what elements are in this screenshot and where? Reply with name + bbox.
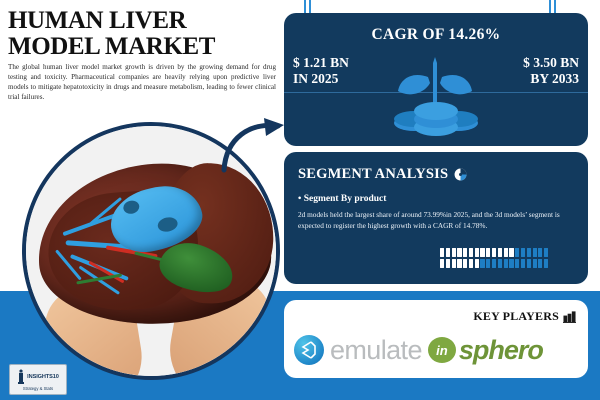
lighthouse-icon — [17, 369, 25, 385]
bar-segment — [509, 259, 513, 268]
pie-chart-icon — [454, 168, 467, 181]
factory-icon — [563, 310, 576, 323]
segment-analysis-title-text: SEGMENT ANALYSIS — [298, 166, 448, 183]
bar-segment — [538, 248, 542, 257]
segment-body-text: 2d models held the largest share of arou… — [298, 210, 576, 232]
bar-segment — [521, 248, 525, 257]
cagr-title: CAGR OF 14.26% — [284, 26, 588, 44]
bar-segment — [486, 259, 490, 268]
bar-segment — [480, 259, 484, 268]
bar-segment — [498, 248, 502, 257]
insphero-wordmark: sphero — [459, 337, 543, 364]
bar-segment — [452, 248, 456, 257]
bar-segment — [533, 259, 537, 268]
liver-photo-figure — [22, 122, 288, 388]
bar-segment — [492, 259, 496, 268]
bar-segment — [527, 259, 531, 268]
vein — [62, 213, 116, 236]
bar-segment — [544, 259, 548, 268]
vessel-opening — [156, 216, 178, 234]
bar-segment — [446, 248, 450, 257]
vessel-opening — [122, 199, 140, 215]
bar-segment — [463, 259, 467, 268]
value-start-line2: IN 2025 — [293, 71, 349, 87]
bar-segment — [504, 259, 508, 268]
key-players-logos: emulate in sphero — [294, 328, 578, 372]
bar-segment — [440, 259, 444, 268]
bar-segment — [504, 248, 508, 257]
key-players-card: KEY PLAYERS emulate in sphero — [284, 300, 588, 378]
emulate-glyph — [294, 335, 324, 365]
bar-segment — [457, 248, 461, 257]
segment-bullet: • Segment By product — [298, 194, 386, 204]
bar-segment — [515, 259, 519, 268]
bar-segment — [486, 248, 490, 257]
value-end: $ 3.50 BN BY 2033 — [523, 55, 579, 86]
bar-segment — [452, 259, 456, 268]
insphero-prefix: in — [436, 344, 448, 357]
bar-segment — [457, 259, 461, 268]
bar-segment — [469, 248, 473, 257]
intro-paragraph: The global human liver model market grow… — [8, 62, 276, 102]
insphero-logo-mark: in — [428, 337, 456, 363]
value-start-line1: $ 1.21 BN — [293, 55, 349, 71]
page-title: HUMAN LIVER MODEL MARKET — [8, 8, 274, 60]
emulate-wordmark: emulate — [330, 337, 422, 364]
bar-segment — [469, 259, 473, 268]
bar-segment — [538, 259, 542, 268]
bar-segment — [527, 248, 531, 257]
curved-arrow-icon — [220, 116, 292, 174]
bar-segment — [475, 248, 479, 257]
cagr-card: CAGR OF 14.26% $ 1.21 BN IN 2025 $ 3.50 … — [284, 13, 588, 146]
infographic-canvas: HUMAN LIVER MODEL MARKET The global huma… — [0, 0, 600, 400]
segment-bar-chart — [440, 248, 574, 271]
bar-segment — [521, 259, 525, 268]
value-start: $ 1.21 BN IN 2025 — [293, 55, 349, 86]
bar-segment — [440, 248, 444, 257]
segment-analysis-title: SEGMENT ANALYSIS — [298, 166, 467, 183]
segment-analysis-card: SEGMENT ANALYSIS • Segment By product 2d… — [284, 152, 588, 284]
bar-segment — [515, 248, 519, 257]
bar-segment — [544, 248, 548, 257]
bar-segment — [498, 259, 502, 268]
key-players-title: KEY PLAYERS — [473, 309, 576, 324]
plant-coins-icon — [384, 49, 488, 143]
brand-badge-row: INSIGHTS10 — [17, 369, 59, 385]
brand-tagline: Strategy & Stats — [23, 386, 53, 391]
bar-segment — [463, 248, 467, 257]
brand-badge: INSIGHTS10 Strategy & Stats — [9, 364, 67, 395]
bar-segment — [509, 248, 513, 257]
bar-row-2 — [440, 259, 574, 268]
bar-row-1 — [440, 248, 574, 257]
bar-segment — [533, 248, 537, 257]
bar-segment — [446, 259, 450, 268]
bar-segment — [480, 248, 484, 257]
bar-segment — [492, 248, 496, 257]
value-end-line2: BY 2033 — [523, 71, 579, 87]
key-players-title-text: KEY PLAYERS — [473, 309, 559, 324]
value-end-line1: $ 3.50 BN — [523, 55, 579, 71]
brand-name: INSIGHTS10 — [27, 374, 59, 380]
bar-segment — [475, 259, 479, 268]
emulate-logo-mark — [294, 335, 324, 365]
vein — [55, 249, 82, 280]
